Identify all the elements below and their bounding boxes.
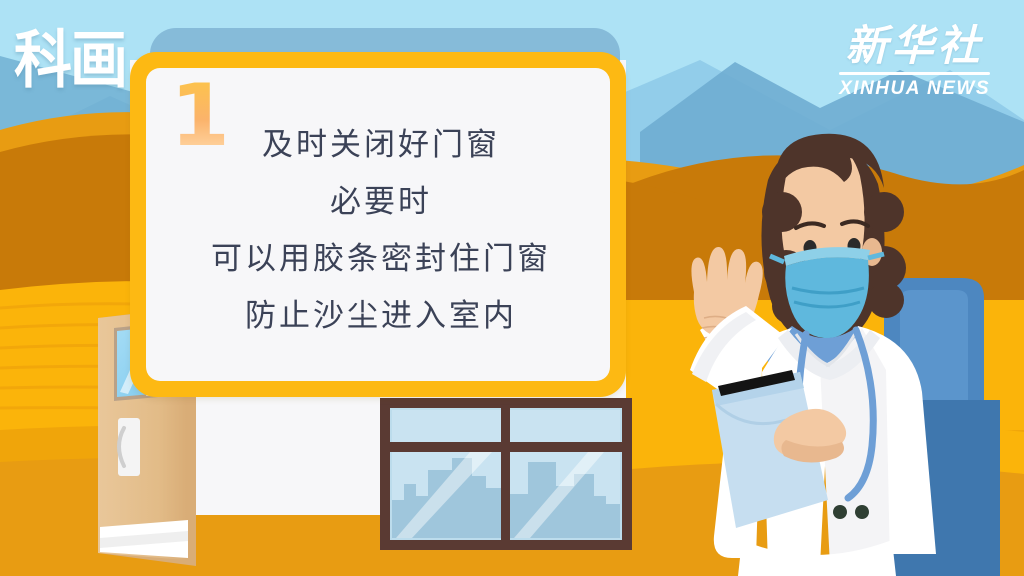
xinhua-logo-divider [839, 72, 990, 75]
tip-line-3: 可以用胶条密封住门窗 [146, 244, 616, 275]
tip-line-4: 防止沙尘进入室内 [146, 301, 616, 332]
ke-hua-logo: 科画 [14, 14, 126, 106]
ke-hua-logo-text: 科画 [14, 29, 126, 92]
tip-line-2: 必要时 [146, 187, 616, 218]
xinhua-news-logo: 新华社 XINHUA NEWS [839, 24, 990, 100]
xinhua-logo-english: XINHUA NEWS [839, 78, 990, 100]
xinhua-logo-chinese: 新华社 [839, 24, 990, 68]
infographic-canvas: 科画 新华社 XINHUA NEWS 1 及时关闭好门窗 必要时 可以用胶条密封… [0, 0, 1024, 576]
tip-card-text: 及时关闭好门窗 必要时 可以用胶条密封住门窗 防止沙尘进入室内 [146, 130, 616, 332]
window [380, 398, 632, 550]
tip-line-1: 及时关闭好门窗 [146, 130, 616, 161]
